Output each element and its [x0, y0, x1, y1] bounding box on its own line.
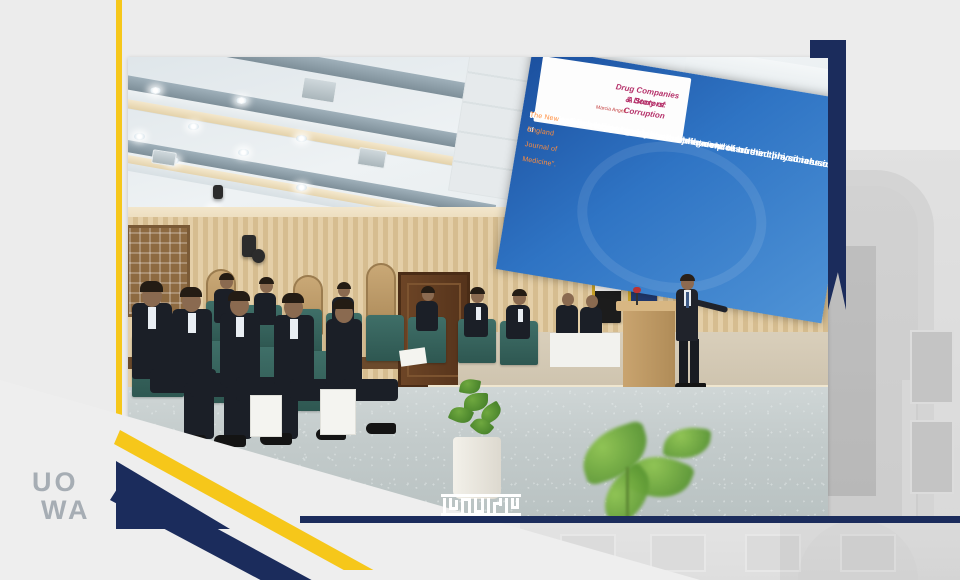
ceiling-light	[134, 133, 145, 140]
corner-accent-navy	[828, 40, 846, 310]
side-table	[550, 333, 620, 367]
ceiling-light	[296, 135, 307, 142]
audience-hair	[228, 291, 250, 301]
audience-hair	[337, 282, 351, 289]
audience-head	[586, 295, 598, 308]
audience-hair	[333, 299, 354, 309]
speaker-tie	[686, 292, 689, 308]
audience-hair	[219, 273, 234, 280]
wall-speaker	[252, 249, 265, 263]
kufic-arabic-wordmark	[441, 494, 521, 516]
audience-hair	[512, 289, 527, 296]
auditorium-seat	[366, 315, 404, 361]
ceiling-light	[236, 97, 247, 104]
yellow-vertical-rule	[116, 0, 122, 470]
audience-member	[556, 305, 578, 335]
program-booklet	[320, 389, 356, 435]
ceiling-light	[188, 123, 199, 130]
ceiling-light	[296, 184, 307, 191]
arch-wall-panel	[366, 263, 396, 323]
audience-hair	[259, 277, 274, 284]
audience-shoe	[366, 423, 396, 434]
audience-hair	[180, 287, 202, 297]
uowa-logo: UO WA	[32, 468, 110, 524]
building-window	[840, 534, 896, 572]
audience-member	[416, 301, 438, 331]
podium-top	[616, 301, 682, 311]
plant-pot	[453, 437, 501, 499]
audience-shirt	[236, 317, 244, 337]
slide-title: Drug Companies & Doctors:A Story of Corr…	[547, 71, 681, 102]
audience-hair	[140, 281, 163, 292]
audience-shirt	[188, 313, 196, 333]
microphone	[636, 291, 638, 305]
poster-canvas: Drug Companies & Doctors:A Story of Corr…	[0, 0, 960, 580]
program-booklet	[250, 395, 282, 437]
audience-shirt	[518, 309, 523, 322]
audience-shirt	[290, 319, 298, 339]
audience-shirt	[476, 307, 481, 320]
audience-hair	[282, 293, 304, 303]
audience-hair	[421, 286, 435, 293]
podium	[623, 307, 675, 393]
foreground-plant-stem	[626, 467, 629, 519]
building-window	[910, 330, 954, 404]
uowa-logo-line2: WA	[41, 496, 110, 524]
speaker-leg	[690, 339, 699, 387]
audience-head	[562, 293, 574, 306]
bottom-navy-bar	[300, 516, 960, 523]
audience-member-front	[326, 319, 362, 385]
building-window	[745, 534, 801, 572]
projector	[213, 185, 223, 199]
slide-source: The New England Journal of Medicine".	[521, 107, 565, 172]
ceiling-light	[238, 149, 249, 156]
building-window	[650, 534, 706, 572]
building-window	[910, 420, 954, 494]
audience-hair	[470, 287, 485, 294]
uowa-logo-line1: UO	[32, 468, 110, 496]
audience-shirt	[148, 307, 156, 329]
speaker-hair	[680, 274, 695, 281]
ceiling-light	[150, 87, 161, 94]
speaker-leg	[679, 339, 688, 387]
